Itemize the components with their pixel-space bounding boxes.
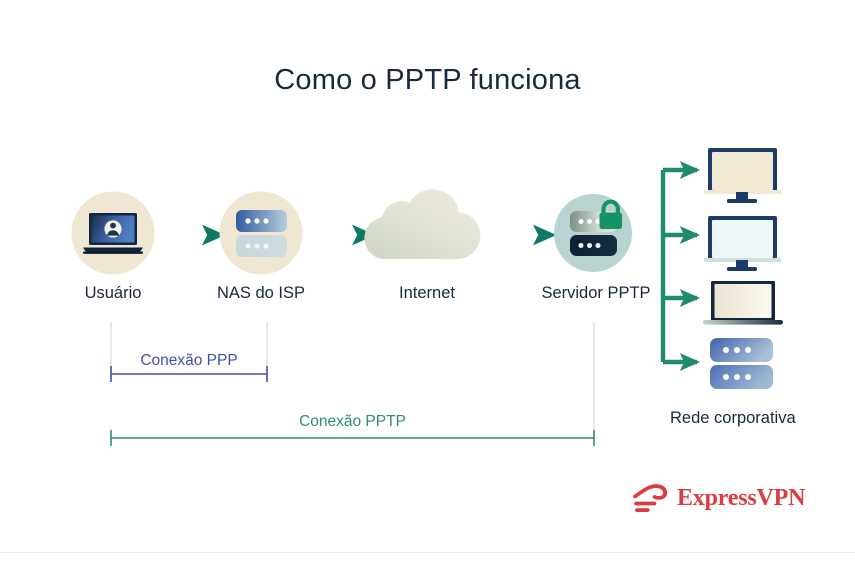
bottom-divider bbox=[0, 552, 855, 553]
expressvpn-e-logo-icon bbox=[632, 483, 668, 513]
node-label-internet: Internet bbox=[399, 284, 455, 302]
cloud-icon bbox=[364, 189, 480, 259]
measurement-bracket-pptp bbox=[111, 430, 594, 446]
corporate-network-label: Rede corporativa bbox=[670, 409, 796, 428]
branch-connector bbox=[663, 170, 697, 362]
expressvpn-logo: ExpressVPN bbox=[632, 483, 805, 513]
server-icon-corp bbox=[710, 338, 773, 389]
node-label-user: Usuário bbox=[85, 284, 142, 302]
laptop-icon bbox=[703, 281, 783, 325]
pptp-circle-bg bbox=[554, 194, 632, 272]
node-label-nas: NAS do ISP bbox=[217, 284, 305, 302]
nas-circle-bg bbox=[220, 192, 303, 275]
measurement-label-pptp: Conexão PPTP bbox=[111, 413, 594, 431]
monitor-icon-white bbox=[704, 216, 781, 271]
laptop-user-icon bbox=[83, 213, 143, 254]
node-label-pptp-server: Servidor PPTP bbox=[541, 284, 650, 302]
node-user: Usuário bbox=[72, 192, 155, 303]
diagram-canvas: Usuário NAS do ISP Internet bbox=[0, 0, 855, 561]
node-nas: NAS do ISP bbox=[217, 192, 305, 303]
monitor-icon-cream bbox=[704, 148, 781, 203]
measurement-label-ppp: Conexão PPP bbox=[111, 352, 267, 370]
node-pptp-server: Servidor PPTP bbox=[541, 194, 650, 302]
node-internet: Internet bbox=[364, 189, 480, 302]
expressvpn-wordmark: ExpressVPN bbox=[677, 486, 805, 510]
